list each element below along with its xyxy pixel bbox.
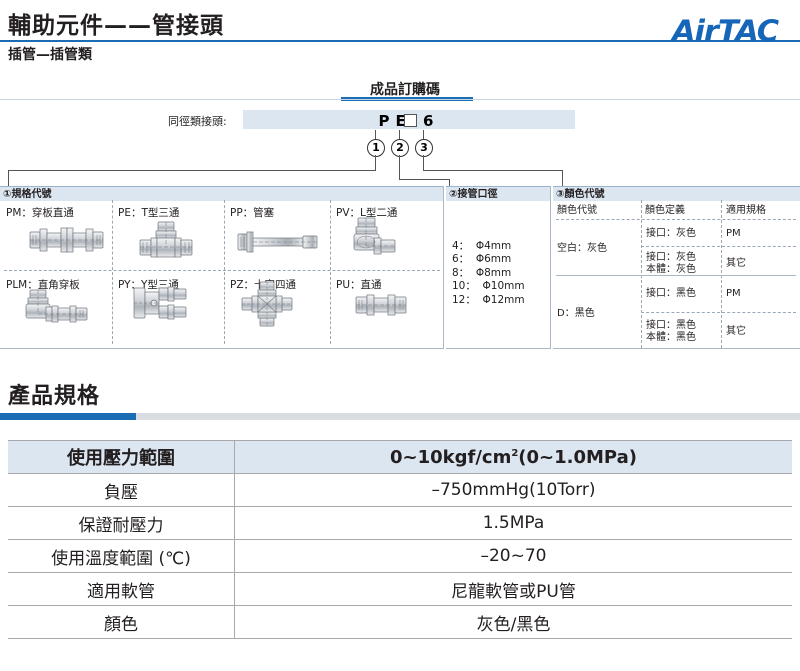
- ordering-code-blank-box: [404, 114, 417, 127]
- table-row: 使用壓力範圍 0~10kgf/cm2(0~1.0MPa): [8, 441, 792, 474]
- table-row: 負壓 –750mmHg(10Torr): [8, 474, 792, 507]
- color-col-header-1: 顏色代號: [557, 205, 597, 217]
- leader-1-h: [8, 170, 376, 171]
- color-row-div-1: [641, 246, 796, 247]
- spec-key: 負壓: [8, 474, 235, 507]
- table-row: 顏色 灰色/黑色: [8, 606, 792, 639]
- leader-2-h: [399, 179, 450, 180]
- tube-diameter-list: 4： Φ4mm 6： Φ6mm 8： Φ8mm 10： Φ10mm 12： Φ1…: [452, 240, 525, 307]
- ordering-code-rule: [0, 99, 800, 100]
- spec-value: –750mmHg(10Torr): [235, 474, 793, 507]
- page-title: 輔助元件——管接頭: [8, 6, 224, 40]
- color-def-d-pm: 接口：黑色: [646, 288, 696, 300]
- color-col-div-2: [721, 200, 722, 348]
- color-row-div-2: [556, 275, 796, 276]
- color-code-d: D：黑色: [557, 308, 595, 320]
- leader-3-v1: [423, 155, 424, 170]
- color-def-d-other: 接口：黑色 本體：黑色: [646, 320, 696, 343]
- color-col-header-2: 顏色定義: [645, 205, 685, 217]
- color-col-div-1: [641, 200, 642, 348]
- color-spec-blank-other: 其它: [726, 258, 746, 270]
- table-row: 適用軟管 尼龍軟管或PU管: [8, 573, 792, 606]
- table-row: 使用溫度範圍 (℃) –20~70: [8, 540, 792, 573]
- panel1-right: [443, 186, 444, 349]
- color-row-div-3: [641, 312, 796, 313]
- spec-value: –20~70: [235, 540, 793, 573]
- color-spec-blank-pm: PM: [726, 228, 741, 240]
- panel3-bottom: [553, 348, 800, 349]
- marker-circle-1: 1: [367, 139, 385, 157]
- leader-2-v1: [399, 155, 400, 179]
- panel2-bottom: [446, 348, 550, 349]
- spec-value: 尼龍軟管或PU管: [235, 573, 793, 606]
- page-subtitle: 插管—插管類: [8, 44, 92, 64]
- table-row: 保證耐壓力 1.5MPa: [8, 507, 792, 540]
- airtac-logo: AirTAC: [672, 14, 778, 48]
- color-def-blank-other: 接口：灰色 本體：灰色: [646, 252, 696, 275]
- section-header-3: ③顏色代號: [553, 186, 800, 201]
- leader-3-h: [423, 170, 563, 171]
- color-spec-d-pm: PM: [726, 288, 741, 300]
- spec-value: 1.5MPa: [235, 507, 793, 540]
- color-col-header-3: 適用規格: [726, 205, 766, 217]
- product-spec-table: 使用壓力範圍 0~10kgf/cm2(0~1.0MPa) 負壓 –750mmHg…: [8, 440, 792, 639]
- color-hdr-div: [556, 219, 796, 220]
- color-spec-d-other: 其它: [726, 326, 746, 338]
- leader-2-v2: [449, 179, 450, 186]
- ordering-code-title: 成品訂購碼: [341, 79, 469, 99]
- color-code-blank: 空白：灰色: [557, 243, 607, 255]
- leader-1-v2: [8, 170, 9, 186]
- spec-value: 灰色/黑色: [235, 606, 793, 639]
- marker-circle-3: 3: [415, 139, 433, 157]
- stem-1: [375, 130, 376, 139]
- panel2-right: [550, 186, 551, 349]
- marker-circle-2: 2: [391, 139, 409, 157]
- stem-3: [423, 130, 424, 139]
- spec-key: 保證耐壓力: [8, 507, 235, 540]
- stem-2: [399, 130, 400, 139]
- spec-key: 顏色: [8, 606, 235, 639]
- ordering-code-row-label: 同徑類接頭:: [168, 113, 227, 129]
- product-spec-bar-accent: [0, 413, 136, 420]
- leader-1-v1: [375, 155, 376, 170]
- spec-key: 使用溫度範圍 (℃): [8, 540, 235, 573]
- color-def-blank-pm: 接口：灰色: [646, 228, 696, 240]
- spec-key: 使用壓力範圍: [8, 441, 235, 474]
- catalog-page: 輔助元件——管接頭 插管—插管類 AirTAC 成品訂購碼 同徑類接頭: PE …: [0, 0, 800, 671]
- spec-value: 0~10kgf/cm2(0~1.0MPa): [235, 441, 793, 474]
- fitting-illustrations: [0, 186, 443, 348]
- panel1-bottom: [0, 348, 443, 349]
- spec-key: 適用軟管: [8, 573, 235, 606]
- section-header-2: ②接管口徑: [446, 186, 550, 201]
- product-spec-title: 產品規格: [8, 378, 100, 410]
- leader-3-v2: [562, 170, 563, 186]
